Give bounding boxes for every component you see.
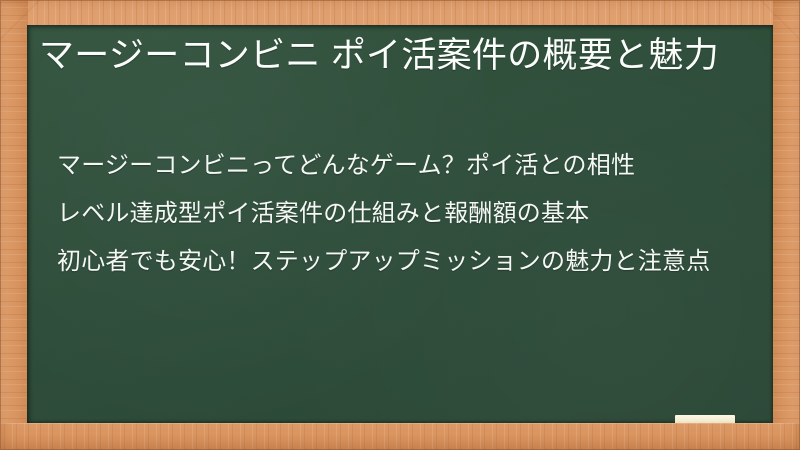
frame-stile-left bbox=[0, 0, 28, 450]
page-title: マージーコンビニ ポイ活案件の概要と魅力 bbox=[39, 33, 745, 79]
chalkboard-frame: マージーコンビニ ポイ活案件の概要と魅力 マージーコンビニってどんなゲーム？ポイ… bbox=[0, 0, 800, 450]
list-item: 初心者でも安心！ステップアップミッションの魅力と注意点 bbox=[57, 245, 749, 278]
chalkboard-surface: マージーコンビニ ポイ活案件の概要と魅力 マージーコンビニってどんなゲーム？ポイ… bbox=[27, 25, 773, 423]
chalk-stick-icon bbox=[675, 415, 735, 423]
list-item: レベル達成型ポイ活案件の仕組みと報酬額の基本 bbox=[57, 197, 749, 230]
headings-list: マージーコンビニってどんなゲーム？ポイ活との相性 レベル達成型ポイ活案件の仕組み… bbox=[57, 149, 749, 278]
list-item: マージーコンビニってどんなゲーム？ポイ活との相性 bbox=[57, 149, 749, 182]
chalk-ledge bbox=[0, 423, 800, 450]
frame-stile-right bbox=[773, 0, 800, 450]
